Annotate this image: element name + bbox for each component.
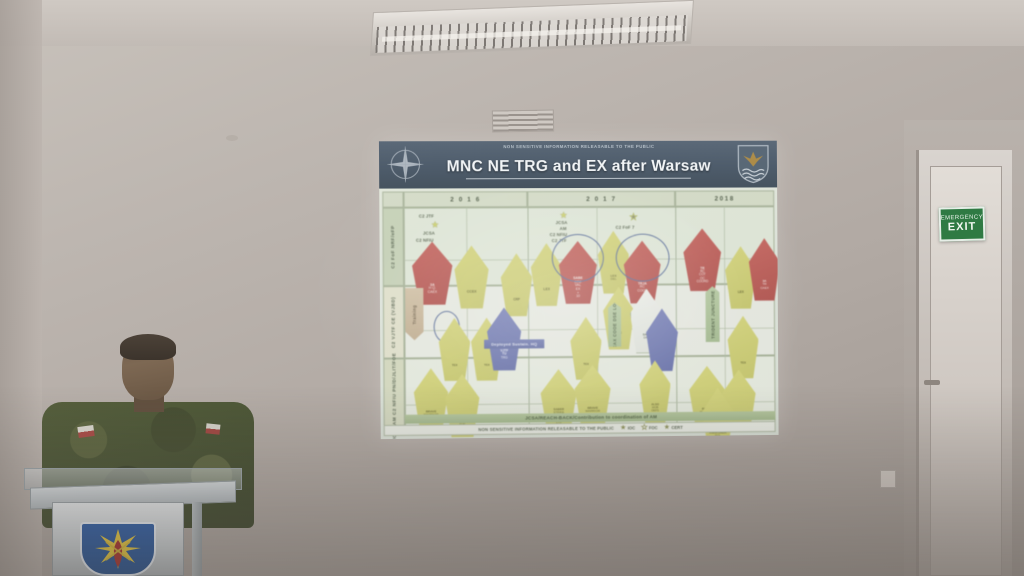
cpx-cax-column-arrow: CPX CAX COOE DSE LOC WN [608, 303, 621, 347]
training-arrow-band: Training [405, 288, 423, 340]
slide-header: NON SENSITIVE INFORMATION RELEASABLE TO … [379, 141, 777, 189]
presenter-hair [120, 334, 176, 360]
conference-room-photo: NON SENSITIVE INFORMATION RELEASABLE TO … [0, 0, 1024, 576]
row-label-c2-vjtf: C2 VJTF CE (VJBD) [383, 286, 405, 359]
emergency-exit-sign: EMERGENCY EXIT [939, 206, 986, 241]
ceiling-vent [492, 109, 554, 132]
annotation-2017-jcsa: JCSA [556, 220, 568, 226]
training-arrow-label: Training [412, 304, 417, 324]
title-underline [466, 178, 691, 180]
column-header-2017: 2 0 1 7 [527, 191, 675, 207]
exit-sign-line2: EXIT [948, 221, 977, 234]
annotation-c2-fof-7: C2 FoF 7 [616, 225, 635, 231]
row-label-c2-vjtf-text: C2 VJTF CE (VJBD) [390, 297, 397, 348]
column-header-2018: 2018 [675, 190, 774, 206]
row-label-c2-fof: C2 FoF NRF/eFP [382, 208, 404, 287]
annotation-2016-jcsa: JCSA [423, 231, 435, 237]
star-icon-2016: ★ [431, 221, 439, 230]
ceiling-sensor-icon [226, 135, 238, 141]
star-icon-2017: ★ [560, 211, 568, 220]
trident-juncture-arrow: TRIDENT JUNCTURE [705, 286, 719, 342]
slide-title: MNC NE TRG and EX after Warsaw [379, 158, 777, 177]
annotation-2016-c2nfiu: C2 NFIU [416, 238, 434, 244]
star-icon-c2fof7: ★ [629, 213, 637, 222]
header-corner-cell [382, 192, 403, 208]
deployed-sustain-hq-banner: Deployed Sustain. HQ [484, 339, 544, 348]
floor-shadow-gradient [0, 386, 1024, 576]
year-header-row: 2 0 1 6 2 0 1 7 2018 [382, 190, 774, 207]
door-handle[interactable] [924, 380, 940, 385]
column-header-2016: 2 0 1 6 [404, 191, 528, 207]
highlight-ellipse-sabe[interactable] [552, 234, 604, 282]
row-label-c2-fof-text: C2 FoF NRF/eFP [390, 225, 397, 268]
annotation-2017-am: AM [560, 226, 567, 232]
highlight-ellipse-trja[interactable] [616, 234, 670, 282]
annotation-2016-stack: C2 JTF [419, 214, 434, 220]
classification-banner-top: NON SENSITIVE INFORMATION RELEASABLE TO … [379, 144, 777, 150]
trident-juncture-label: TRIDENT JUNCTURE [710, 290, 715, 338]
